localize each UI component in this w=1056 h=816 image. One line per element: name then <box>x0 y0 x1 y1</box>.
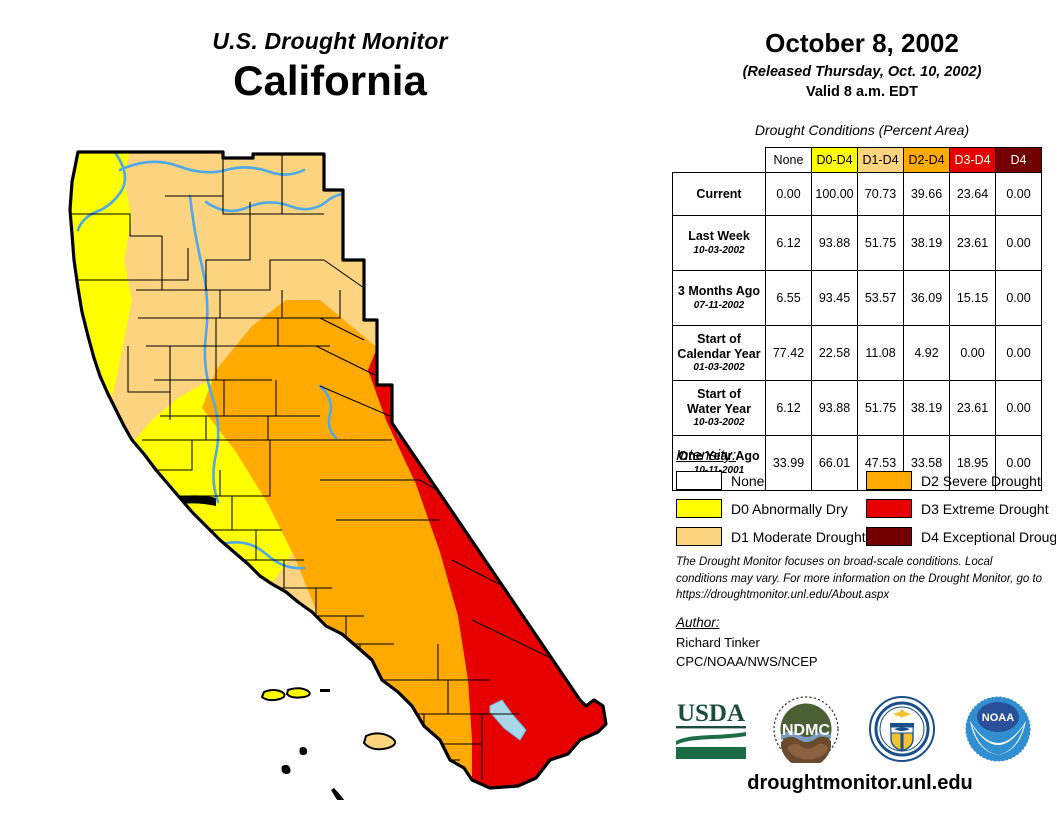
table-caption: Drought Conditions (Percent Area) <box>676 122 1048 138</box>
noaa-logo: NOAA <box>964 695 1032 763</box>
map-svg <box>20 140 660 800</box>
row-date: 07-11-2002 <box>675 300 763 312</box>
legend-item-left-2: D1 Moderate Drought <box>676 524 866 549</box>
intensity-legend-title: Intensity: <box>676 447 736 464</box>
cell-d3-d4: 23.61 <box>950 381 996 436</box>
svg-text:USDA: USDA <box>677 700 745 727</box>
row-date: 10-03-2002 <box>675 245 763 257</box>
row-label: Start ofCalendar Year01-03-2002 <box>673 326 766 381</box>
valid-line: Valid 8 a.m. EDT <box>676 84 1048 100</box>
island-anacapa <box>299 747 307 755</box>
legend-swatch <box>676 471 722 490</box>
table-row: Current0.00100.0070.7339.6623.640.00 <box>673 173 1042 216</box>
released-line: (Released Thursday, Oct. 10, 2002) <box>676 64 1048 80</box>
legend-swatch <box>866 527 912 546</box>
cell-none: 6.55 <box>766 271 812 326</box>
legend-label: None <box>731 473 764 489</box>
cell-d2-d4: 36.09 <box>904 271 950 326</box>
legend-item-right-1: D3 Extreme Drought <box>866 496 1056 521</box>
column-header-d2-d4: D2-D4 <box>904 148 950 173</box>
usda-logo: USDA <box>672 695 750 761</box>
cell-d0-d4: 100.00 <box>812 173 858 216</box>
row-date: 10-03-2002 <box>675 417 763 429</box>
legend-item-right-0: D2 Severe Drought <box>866 468 1056 493</box>
cell-d4: 0.00 <box>996 326 1042 381</box>
zone-d0-coastal-north <box>20 140 132 520</box>
san-francisco-bay <box>126 519 148 555</box>
lake-tahoe <box>364 287 379 313</box>
island-santa-rosa <box>287 688 310 697</box>
map-title-block: U.S. Drought Monitor California <box>0 28 660 103</box>
cell-d0-d4: 93.45 <box>812 271 858 326</box>
legend-label: D4 Exceptional Drought <box>921 529 1056 545</box>
cell-d0-d4: 22.58 <box>812 326 858 381</box>
legend-item-left-1: D0 Abnormally Dry <box>676 496 866 521</box>
cell-none: 6.12 <box>766 216 812 271</box>
column-header-d4: D4 <box>996 148 1042 173</box>
author-title: Author: <box>676 615 720 630</box>
cell-d1-d4: 70.73 <box>858 173 904 216</box>
legend-swatch <box>676 527 722 546</box>
svg-text:NDMC: NDMC <box>782 722 830 739</box>
author-name: Richard Tinker <box>676 634 818 653</box>
legend-swatch <box>866 471 912 490</box>
author-info: Richard Tinker CPC/NOAA/NWS/NCEP <box>676 634 818 672</box>
legend-label: D3 Extreme Drought <box>921 501 1049 517</box>
row-label: 3 Months Ago07-11-2002 <box>673 271 766 326</box>
cell-d1-d4: 51.75 <box>858 381 904 436</box>
cell-d2-d4: 38.19 <box>904 216 950 271</box>
cell-d3-d4: 0.00 <box>950 326 996 381</box>
legend-swatch <box>866 499 912 518</box>
cell-d1-d4: 51.75 <box>858 216 904 271</box>
island-santa-cruz <box>320 689 330 692</box>
drought-zone-layer <box>20 140 660 800</box>
cell-d1-d4: 53.57 <box>858 271 904 326</box>
cell-d3-d4: 23.61 <box>950 216 996 271</box>
cell-d2-d4: 38.19 <box>904 381 950 436</box>
usdc-seal <box>868 695 936 763</box>
california-drought-map <box>20 140 660 800</box>
cell-d0-d4: 93.88 <box>812 381 858 436</box>
cell-d4: 0.00 <box>996 216 1042 271</box>
legend-item-left-0: None <box>676 468 866 493</box>
cell-d1-d4: 11.08 <box>858 326 904 381</box>
table-corner-cell <box>673 148 766 173</box>
cell-d0-d4: 93.88 <box>812 216 858 271</box>
island-santa-catalina <box>364 733 395 749</box>
intensity-legend-left: NoneD0 Abnormally DryD1 Moderate Drought <box>676 468 866 552</box>
disclaimer-text: The Drought Monitor focuses on broad-sca… <box>676 554 1046 604</box>
island-san-miguel <box>262 690 285 700</box>
ndmc-logo: NDMC <box>772 695 840 763</box>
column-header-d0-d4: D0-D4 <box>812 148 858 173</box>
drought-conditions-table: NoneD0-D4D1-D4D2-D4D3-D4D4 Current0.0010… <box>672 147 1042 491</box>
svg-text:NOAA: NOAA <box>982 712 1014 724</box>
table-body: Current0.00100.0070.7339.6623.640.00Last… <box>673 173 1042 491</box>
channel-islands <box>262 688 395 800</box>
site-url: droughtmonitor.unl.edu <box>672 772 1048 795</box>
legend-item-right-2: D4 Exceptional Drought <box>866 524 1056 549</box>
column-header-d3-d4: D3-D4 <box>950 148 996 173</box>
legend-swatch <box>676 499 722 518</box>
cell-none: 77.42 <box>766 326 812 381</box>
release-date: October 8, 2002 <box>676 28 1048 59</box>
legend-label: D0 Abnormally Dry <box>731 501 848 517</box>
table-header-row: NoneD0-D4D1-D4D2-D4D3-D4D4 <box>673 148 1042 173</box>
island-san-clemente <box>331 788 353 800</box>
date-block: October 8, 2002 (Released Thursday, Oct.… <box>676 28 1048 100</box>
cell-d4: 0.00 <box>996 173 1042 216</box>
cell-none: 6.12 <box>766 381 812 436</box>
island-san-nicolas <box>282 765 291 774</box>
table-row: Last Week10-03-20026.1293.8851.7538.1923… <box>673 216 1042 271</box>
cell-d4: 0.00 <box>996 381 1042 436</box>
row-label: Last Week10-03-2002 <box>673 216 766 271</box>
row-label: Start ofWater Year10-03-2002 <box>673 381 766 436</box>
program-title: U.S. Drought Monitor <box>0 28 660 55</box>
author-affiliation: CPC/NOAA/NWS/NCEP <box>676 653 818 672</box>
cell-d3-d4: 23.64 <box>950 173 996 216</box>
cell-d4: 0.00 <box>996 271 1042 326</box>
table-row: Start ofWater Year10-03-20026.1293.8851.… <box>673 381 1042 436</box>
cell-d2-d4: 39.66 <box>904 173 950 216</box>
cell-d2-d4: 4.92 <box>904 326 950 381</box>
cell-none: 0.00 <box>766 173 812 216</box>
logo-row: USDA NDMC NOAA <box>672 695 1048 767</box>
cell-d3-d4: 15.15 <box>950 271 996 326</box>
legend-label: D2 Severe Drought <box>921 473 1041 489</box>
column-header-d1-d4: D1-D4 <box>858 148 904 173</box>
row-date: 01-03-2002 <box>675 362 763 374</box>
page-title: California <box>0 59 660 103</box>
table-row: Start ofCalendar Year01-03-200277.4222.5… <box>673 326 1042 381</box>
row-label: Current <box>673 173 766 216</box>
intensity-legend-right: D2 Severe DroughtD3 Extreme DroughtD4 Ex… <box>866 468 1056 552</box>
legend-label: D1 Moderate Drought <box>731 529 866 545</box>
table-row: 3 Months Ago07-11-20026.5593.4553.5736.0… <box>673 271 1042 326</box>
column-header-none: None <box>766 148 812 173</box>
